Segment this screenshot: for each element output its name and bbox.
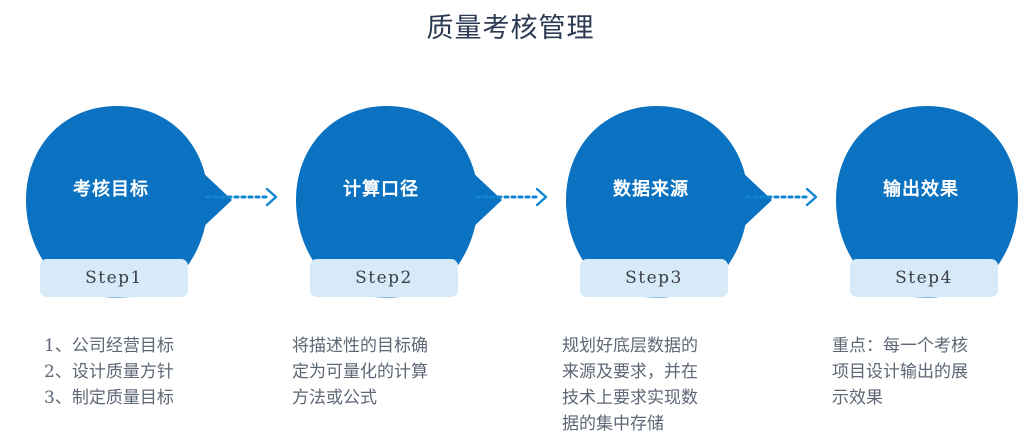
step-badge-label-4: Step4 xyxy=(895,268,953,288)
stage-description-2: 将描述性的目标确 定为可量化的计算 方法或公式 xyxy=(292,333,504,411)
step-badge-label-2: Step2 xyxy=(355,268,413,288)
step-badge-3: Step3 xyxy=(580,259,728,297)
step-badge-label-3: Step3 xyxy=(625,268,683,288)
connector-arrow-3 xyxy=(745,186,823,208)
flow-stage-1[interactable]: 考核目标 Step1 xyxy=(22,104,232,304)
step-badge-2: Step2 xyxy=(310,259,458,297)
connector-arrow-2 xyxy=(475,186,553,208)
connector-arrow-1 xyxy=(205,186,283,208)
step-badge-1: Step1 xyxy=(40,259,188,297)
flow-stage-2[interactable]: 计算口径 Step2 xyxy=(292,104,502,304)
stage-description-1: 1、公司经营目标 2、设计质量方针 3、制定质量目标 xyxy=(44,333,256,411)
stage-description-4: 重点：每一个考核 项目设计输出的展 示效果 xyxy=(832,333,1021,411)
flow-stage-3[interactable]: 数据来源 Step3 xyxy=(562,104,772,304)
step-badge-label-1: Step1 xyxy=(85,268,143,288)
process-flow-diagram: 考核目标 Step1 计算口径 Step2 数据来源 Step3 xyxy=(0,0,1021,444)
flow-stage-4[interactable]: 输出效果 Step4 xyxy=(832,104,1021,304)
step-badge-4: Step4 xyxy=(850,259,998,297)
stage-description-3: 规划好底层数据的 来源及要求，并在 技术上要求实现数 据的集中存储 xyxy=(562,333,774,437)
